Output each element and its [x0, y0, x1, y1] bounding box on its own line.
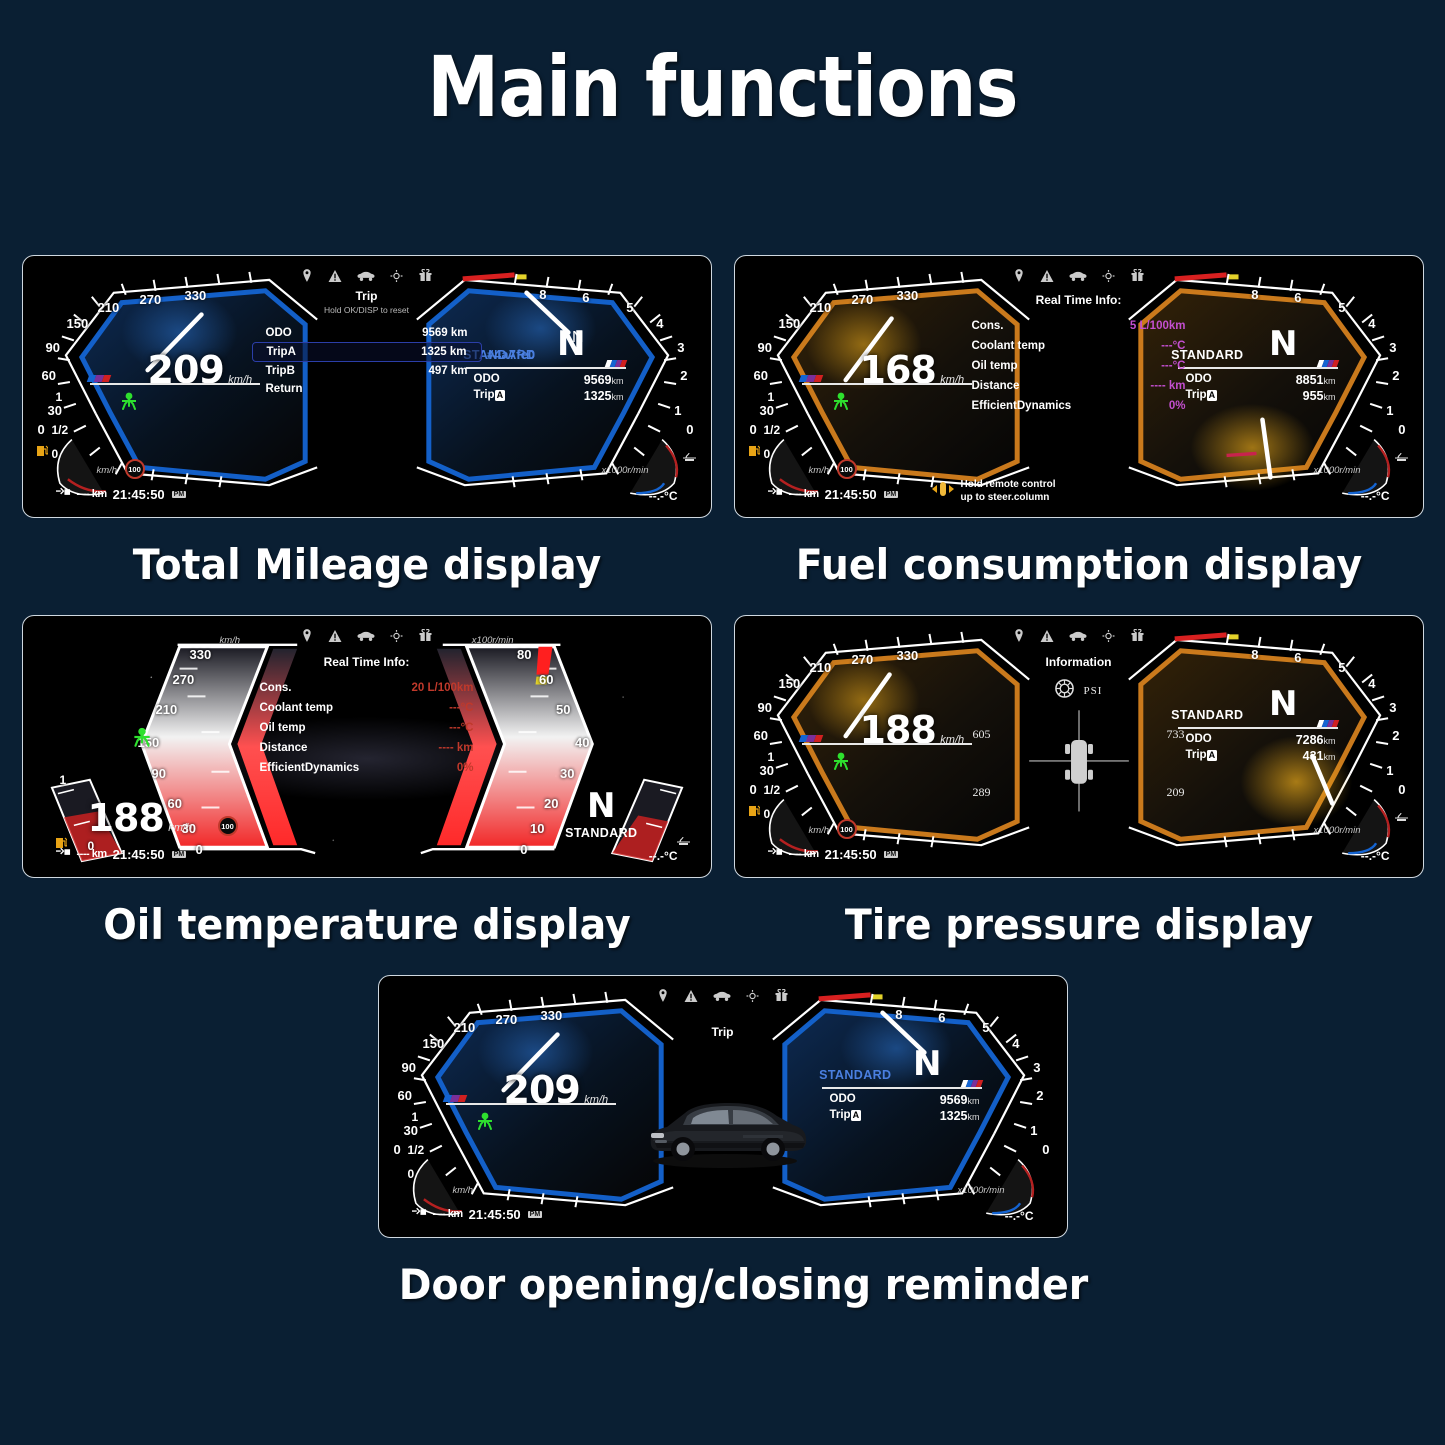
bar-speed-unit: km/h: [220, 635, 241, 646]
range-icon: [768, 845, 783, 863]
fuel-zero-label: 0: [764, 447, 771, 461]
speed-divider: [802, 743, 972, 745]
info-row-coolant[interactable]: Coolant temp---°C: [252, 698, 482, 718]
speed-unit-label: km/h: [809, 825, 830, 836]
speed-tick-150: 150: [423, 1036, 445, 1051]
trip-value: 1325: [940, 1109, 968, 1123]
center-subtitle: Hold OK/DISP to reset: [252, 305, 482, 315]
speed-unit-label: km/h: [809, 465, 830, 476]
panel-total-mileage: 209 km/h 0 30 60 90 150 210 270: [22, 255, 712, 615]
tire-pressure-rear-left: 289: [973, 785, 991, 800]
car-icon: [357, 269, 374, 287]
row-value: ---°C: [449, 722, 473, 734]
fuel-one-label: 1: [412, 1110, 419, 1124]
location-pin-icon: [301, 629, 312, 647]
bar-rpm-tick-60: 60: [539, 672, 553, 687]
clock-meridiem: PM: [884, 491, 899, 498]
bar-rpm-tick-20: 20: [544, 796, 558, 811]
speed-unit-label: km/h: [97, 465, 118, 476]
fuel-one-label: 1: [56, 390, 63, 404]
speed-limit-sign: 100: [837, 459, 857, 479]
clock: 21:45:50: [113, 847, 165, 862]
row-value: ---°C: [449, 702, 473, 714]
coolant-temp-icon: [683, 449, 696, 467]
cluster-screen-total-mileage[interactable]: 209 km/h 0 30 60 90 150 210 270: [22, 255, 712, 518]
range-icon: [56, 845, 71, 863]
center-info-realtime: Real Time Info: Cons.5 L/100km Coolant t…: [964, 293, 1194, 416]
speed-tick-0: 0: [750, 422, 757, 437]
range-value: ---- km: [789, 488, 819, 500]
row-label: TripA: [267, 346, 296, 358]
speed-tick-90: 90: [46, 340, 60, 355]
fuel-pump-icon: [37, 443, 48, 461]
odo-value: 9569: [584, 373, 612, 387]
panel-door-reminder: Trip: [378, 975, 1068, 1335]
gear-divider: [1178, 727, 1338, 729]
clock-meridiem: PM: [172, 491, 187, 498]
location-pin-icon: [657, 989, 668, 1007]
trip-label: Trip: [1186, 749, 1207, 761]
row-label: Oil temp: [260, 722, 306, 734]
range-value: ---- km: [433, 1208, 463, 1220]
odo-row: ODO 9569km: [474, 373, 624, 387]
speed-readout: 168 km/h: [860, 348, 965, 392]
range-icon: [56, 485, 71, 503]
fuel-one-label: 1: [768, 750, 775, 764]
tire-pressure-front-right: 733: [1167, 727, 1185, 742]
pressure-unit: PSI: [1084, 685, 1103, 697]
trip-row: TripA 431km: [1186, 749, 1336, 763]
speed-tick-330: 330: [541, 1008, 563, 1023]
tire-pressure-front-left: 605: [973, 727, 991, 742]
rpm-tick-8: 8: [539, 287, 546, 302]
speed-limit-sign: 100: [218, 816, 238, 836]
trip-list-row-odo[interactable]: ODO 9569 km: [252, 324, 482, 342]
speed-tick-210: 210: [810, 300, 832, 315]
speed-readout: 209 km/h: [148, 348, 253, 392]
fuel-zero-label: 0: [408, 1167, 415, 1181]
speed-tick-270: 270: [852, 652, 874, 667]
row-value: ---- km: [1150, 380, 1185, 392]
drive-mode: STANDARD: [819, 1068, 891, 1082]
range-value: ---- km: [77, 848, 107, 860]
rpm-tick-2: 2: [1036, 1088, 1043, 1103]
rpm-tick-5: 5: [626, 300, 633, 315]
sun-gear-icon: [746, 989, 758, 1007]
m-logo-right-icon: [1316, 720, 1339, 727]
sun-gear-icon: [390, 629, 402, 647]
odo-label: ODO: [830, 1093, 856, 1107]
icon-strip: [301, 269, 432, 287]
outside-temp: --.-°C: [1361, 489, 1390, 503]
status-bar: ---- km 21:45:50PM --.-°C: [742, 482, 1416, 506]
coolant-temp-icon: [1395, 809, 1408, 827]
gear-value: N: [1269, 324, 1297, 364]
m-logo-right-icon: [1316, 360, 1339, 367]
fuel-one-label: 1: [60, 773, 67, 787]
row-value: 0%: [1169, 400, 1186, 412]
drive-mode: STANDARD: [565, 826, 637, 840]
speed-tick-90: 90: [402, 1060, 416, 1075]
rpm-tick-1: 1: [1030, 1123, 1037, 1138]
bar-speed-tick-210: 210: [156, 702, 178, 717]
center-title: Real Time Info:: [252, 655, 482, 669]
row-value: 20 L/100km: [411, 682, 473, 694]
speed-tick-330: 330: [897, 648, 919, 663]
rpm-tick-2: 2: [1392, 368, 1399, 383]
clock-meridiem: PM: [172, 851, 187, 858]
odo-value: 8851: [1296, 373, 1324, 387]
rpm-tick-3: 3: [1389, 340, 1396, 355]
tire-icon: [1055, 679, 1074, 703]
bar-rpm-tick-50: 50: [556, 702, 570, 717]
odo-row: ODO 7286km: [1186, 733, 1336, 747]
rpm-tick-4: 4: [1368, 316, 1375, 331]
center-info-trip: Trip Hold OK/DISP to reset ODO 9569 km T…: [252, 289, 482, 398]
bar-speed-tick-90: 90: [152, 766, 166, 781]
trip-value: 431: [1303, 749, 1324, 763]
speed-readout: 209 km/h: [504, 1068, 609, 1112]
fuel-one-label: 1: [768, 390, 775, 404]
bar-rpm-tick-80: 80: [517, 647, 531, 662]
trip-badge: A: [1207, 750, 1218, 761]
trip-row: TripA 955km: [1186, 389, 1336, 403]
row-label: Coolant temp: [972, 340, 1045, 352]
trip-unit: km: [612, 392, 624, 402]
row-label: EfficientDynamics: [260, 762, 360, 774]
trip-unit: km: [968, 1112, 980, 1122]
caption-fuel-consumption: Fuel consumption display: [754, 540, 1403, 589]
status-bar: ---- km 21:45:50PM --.-°C: [30, 842, 704, 866]
speed-tick-330: 330: [897, 288, 919, 303]
rpm-tick-0: 0: [1398, 782, 1405, 797]
speed-tick-30: 30: [48, 403, 62, 418]
panels-grid: 209 km/h 0 30 60 90 150 210 270: [0, 255, 1445, 1335]
page-title: Main functions: [101, 0, 1344, 136]
row-label: Distance: [260, 742, 308, 754]
odo-unit: km: [612, 376, 624, 386]
rpm-tick-3: 3: [1389, 700, 1396, 715]
m-logo-icon: [798, 735, 823, 742]
rpm-tick-8: 8: [895, 1007, 902, 1022]
trip-label: Trip: [830, 1109, 851, 1121]
trip-list-row-tripb[interactable]: TripB 497 km: [252, 362, 482, 380]
speed-tick-270: 270: [852, 292, 874, 307]
fuel-zero-label: 0: [764, 807, 771, 821]
range-value: ---- km: [77, 488, 107, 500]
clock: 21:45:50: [113, 487, 165, 502]
speed-limit-sign: 100: [125, 459, 145, 479]
cluster-screen-tire-pressure[interactable]: 188 km/h 0 30 60 90 150 210 270 330: [734, 615, 1424, 878]
speed-tick-90: 90: [758, 700, 772, 715]
rpm-unit-label: x1000r/min: [1314, 465, 1361, 476]
range-value: ---- km: [789, 848, 819, 860]
center-title: Information: [964, 655, 1194, 669]
rpm-tick-3: 3: [1033, 1060, 1040, 1075]
rpm-unit-label: x1000r/min: [1314, 825, 1361, 836]
fuel-half-label: 1/2: [52, 423, 69, 437]
gift-icon: [774, 989, 788, 1007]
info-row-cons[interactable]: Cons.20 L/100km: [252, 678, 482, 698]
row-value: 0%: [457, 762, 474, 774]
speed-tick-150: 150: [779, 316, 801, 331]
pedestrian-warning-icon: [830, 751, 852, 776]
row-value: ---- km: [438, 742, 473, 754]
odo-value: 7286: [1296, 733, 1324, 747]
warning-triangle-icon: [1040, 269, 1053, 287]
rpm-tick-0: 0: [1398, 422, 1405, 437]
gear-value: N: [1269, 684, 1297, 724]
m-logo-right-icon: [960, 1080, 983, 1087]
speed-tick-210: 210: [98, 300, 120, 315]
bar-speed-tick-330: 330: [190, 647, 212, 662]
gear-divider: [466, 367, 626, 369]
row-label: TripB: [266, 365, 295, 377]
row-value: ---°C: [1161, 340, 1185, 352]
icon-strip: [1013, 629, 1144, 647]
odo-row: ODO 8851km: [1186, 373, 1336, 387]
coolant-temp-icon: [1395, 449, 1408, 467]
car-icon: [357, 629, 374, 647]
drive-mode: STANDARD: [1171, 708, 1243, 722]
info-row-efficient[interactable]: EfficientDynamics0%: [964, 396, 1194, 416]
trip-badge: A: [851, 1110, 862, 1121]
trip-badge: A: [495, 390, 506, 401]
rpm-tick-5: 5: [982, 1020, 989, 1035]
gift-icon: [1130, 269, 1144, 287]
speed-readout: 188 km/h: [88, 796, 193, 840]
location-pin-icon: [301, 269, 312, 287]
row-label: Return: [266, 383, 303, 395]
row-value: 497 km: [428, 365, 467, 377]
rpm-tick-6: 6: [1294, 290, 1301, 305]
speed-tick-60: 60: [754, 368, 768, 383]
m-logo-icon: [86, 375, 111, 382]
speed-divider: [90, 383, 260, 385]
status-bar: ---- km 21:45:50PM --.-°C: [742, 842, 1416, 866]
speed-tick-60: 60: [754, 728, 768, 743]
icon-strip: [301, 629, 432, 647]
info-row-distance[interactable]: Distance---- km: [252, 738, 482, 758]
speed-tick-30: 30: [760, 403, 774, 418]
rpm-tick-5: 5: [1338, 300, 1345, 315]
bar-speed-tick-270: 270: [173, 672, 195, 687]
car-icon: [1069, 629, 1086, 647]
speed-tick-90: 90: [758, 340, 772, 355]
row-value: ---°C: [1161, 360, 1185, 372]
clock: 21:45:50: [825, 847, 877, 862]
speed-tick-270: 270: [496, 1012, 518, 1027]
gear-value: N: [913, 1044, 941, 1084]
odo-unit: km: [1324, 736, 1336, 746]
status-bar: ---- km 21:45:50PM --.-°C: [386, 1202, 1060, 1226]
panel-row-3: Trip: [0, 975, 1445, 1335]
info-row-cons[interactable]: Cons.5 L/100km: [964, 316, 1194, 336]
trip-row: TripA 1325km: [474, 389, 624, 403]
info-row-coolant[interactable]: Coolant temp---°C: [964, 336, 1194, 356]
speed-tick-270: 270: [140, 292, 162, 307]
warning-triangle-icon: [684, 989, 697, 1007]
center-info-trip: Trip: [608, 1025, 838, 1039]
warning-triangle-icon: [328, 629, 341, 647]
rpm-tick-1: 1: [1386, 763, 1393, 778]
trip-list-row-tripa[interactable]: TripA 1325 km: [252, 342, 482, 362]
bar-rpm-tick-30: 30: [560, 766, 574, 781]
pedestrian-warning-icon: [130, 726, 154, 753]
clock: 21:45:50: [469, 1207, 521, 1222]
info-row-efficient[interactable]: EfficientDynamics0%: [252, 758, 482, 778]
row-value: 1325 km: [421, 346, 466, 358]
speed-readout: 188 km/h: [860, 708, 965, 752]
tire-pressure-rear-right: 209: [1167, 785, 1185, 800]
caption-total-mileage: Total Mileage display: [42, 540, 691, 589]
speed-tick-60: 60: [42, 368, 56, 383]
row-label: EfficientDynamics: [972, 400, 1072, 412]
rpm-tick-6: 6: [1294, 650, 1301, 665]
cluster-screen-oil-temperature[interactable]: km/h 330 270 210 150 90 60 30 0 x100r/mi…: [22, 615, 712, 878]
pedestrian-warning-icon: [830, 391, 852, 416]
m-logo-right-icon: [604, 360, 627, 367]
rpm-tick-3: 3: [677, 340, 684, 355]
car-3d-image: [633, 1091, 813, 1174]
gift-icon: [418, 629, 432, 647]
sun-gear-icon: [390, 269, 402, 287]
row-label: Distance: [972, 380, 1020, 392]
rpm-tick-4: 4: [1368, 676, 1375, 691]
location-pin-icon: [1013, 269, 1024, 287]
odo-unit: km: [1324, 376, 1336, 386]
location-pin-icon: [1013, 629, 1024, 647]
rpm-tick-4: 4: [656, 316, 663, 331]
info-row-distance[interactable]: Distance---- km: [964, 376, 1194, 396]
fuel-pump-icon: [749, 803, 760, 821]
trip-unit: km: [1324, 392, 1336, 402]
fuel-zero-label: 0: [52, 447, 59, 461]
icon-strip: [1013, 269, 1144, 287]
clock: 21:45:50: [825, 487, 877, 502]
speed-tick-150: 150: [779, 676, 801, 691]
fuel-half-label: 1/2: [408, 1143, 425, 1157]
speed-unit-label: km/h: [453, 1185, 474, 1196]
center-title: Trip: [252, 289, 482, 303]
row-label: Oil temp: [972, 360, 1018, 372]
status-bar: ---- km 21:45:50PM --.-°C: [30, 482, 704, 506]
range-icon: [768, 485, 783, 503]
caption-door-reminder: Door opening/closing reminder: [398, 1260, 1047, 1309]
bar-rpm-tick-10: 10: [530, 821, 544, 836]
speed-tick-30: 30: [404, 1123, 418, 1138]
trip-badge: A: [1207, 390, 1218, 401]
sun-gear-icon: [1102, 269, 1114, 287]
bar-rpm-tick-40: 40: [575, 735, 589, 750]
rpm-unit-label: x1000r/min: [958, 1185, 1005, 1196]
rpm-tick-2: 2: [1392, 728, 1399, 743]
rpm-tick-1: 1: [1386, 403, 1393, 418]
panel-oil-temperature: km/h 330 270 210 150 90 60 30 0 x100r/mi…: [22, 615, 712, 975]
center-title: Trip: [608, 1025, 838, 1039]
gift-icon: [418, 269, 432, 287]
caption-tire-pressure: Tire pressure display: [754, 900, 1403, 949]
center-info-tire: Information PSI: [964, 655, 1194, 703]
warning-triangle-icon: [1040, 629, 1053, 647]
row-label: ODO: [266, 327, 292, 339]
fuel-half-label: 1/2: [764, 423, 781, 437]
speed-divider: [802, 383, 972, 385]
speed-tick-210: 210: [810, 660, 832, 675]
row-label: Cons.: [972, 320, 1004, 332]
fuel-pump-icon: [749, 443, 760, 461]
speed-tick-0: 0: [38, 422, 45, 437]
rpm-tick-0: 0: [686, 422, 693, 437]
odo-label: ODO: [1186, 733, 1212, 747]
speed-tick-0: 0: [750, 782, 757, 797]
outside-temp: --.-°C: [649, 489, 678, 503]
trip-value: 1325: [584, 389, 612, 403]
row-value: 9569 km: [422, 327, 467, 339]
speed-limit-sign: 100: [837, 819, 857, 839]
sun-gear-icon: [1102, 629, 1114, 647]
center-info-realtime: Real Time Info: Cons.20 L/100km Coolant …: [252, 655, 482, 778]
panel-tire-pressure: 188 km/h 0 30 60 90 150 210 270 330: [734, 615, 1424, 975]
panel-fuel-consumption: 168 km/h 0 30 60 90 150 210 270 330: [734, 255, 1424, 615]
info-row-oil[interactable]: Oil temp---°C: [964, 356, 1194, 376]
speed-divider: [446, 1103, 616, 1105]
outside-temp: --.-°C: [1005, 1209, 1034, 1223]
speed-tick-330: 330: [185, 288, 207, 303]
info-row-oil[interactable]: Oil temp---°C: [252, 718, 482, 738]
rpm-tick-1: 1: [674, 403, 681, 418]
panel-row-2: km/h 330 270 210 150 90 60 30 0 x100r/mi…: [0, 615, 1445, 975]
row-label: Coolant temp: [260, 702, 333, 714]
cluster-screen-door-reminder[interactable]: Trip: [378, 975, 1068, 1238]
speed-tick-60: 60: [398, 1088, 412, 1103]
pedestrian-warning-icon: [118, 391, 140, 416]
rpm-tick-8: 8: [1251, 287, 1258, 302]
gear-divider: [822, 1087, 982, 1089]
trip-list-row-return[interactable]: Return: [252, 380, 482, 398]
panel-row-1: 209 km/h 0 30 60 90 150 210 270: [0, 255, 1445, 615]
odo-value: 9569: [940, 1093, 968, 1107]
fuel-half-label: 1/2: [764, 783, 781, 797]
car-icon: [713, 989, 730, 1007]
m-logo-icon: [442, 1095, 467, 1102]
warning-triangle-icon: [328, 269, 341, 287]
outside-temp: --.-°C: [649, 849, 678, 863]
clock-meridiem: PM: [884, 851, 899, 858]
trip-row: TripA 1325km: [830, 1109, 980, 1123]
rpm-tick-4: 4: [1012, 1036, 1019, 1051]
rpm-tick-6: 6: [938, 1010, 945, 1025]
pedestrian-warning-icon: [474, 1111, 496, 1136]
speed-tick-0: 0: [394, 1142, 401, 1157]
rpm-tick-8: 8: [1251, 647, 1258, 662]
rpm-tick-6: 6: [582, 290, 589, 305]
bar-rpm-unit: x100r/min: [472, 635, 514, 646]
gift-icon: [1130, 629, 1144, 647]
range-icon: [412, 1205, 427, 1223]
speed-tick-30: 30: [760, 763, 774, 778]
gear-value: N: [587, 786, 615, 826]
cluster-screen-fuel-consumption[interactable]: 168 km/h 0 30 60 90 150 210 270 330: [734, 255, 1424, 518]
icon-strip: [657, 989, 788, 1007]
trip-value: 955: [1303, 389, 1324, 403]
rpm-tick-0: 0: [1042, 1142, 1049, 1157]
row-value: 5 L/100km: [1130, 320, 1186, 332]
speed-tick-150: 150: [67, 316, 89, 331]
rpm-tick-5: 5: [1338, 660, 1345, 675]
clock-meridiem: PM: [528, 1211, 543, 1218]
rpm-unit-label: x1000r/min: [602, 465, 649, 476]
